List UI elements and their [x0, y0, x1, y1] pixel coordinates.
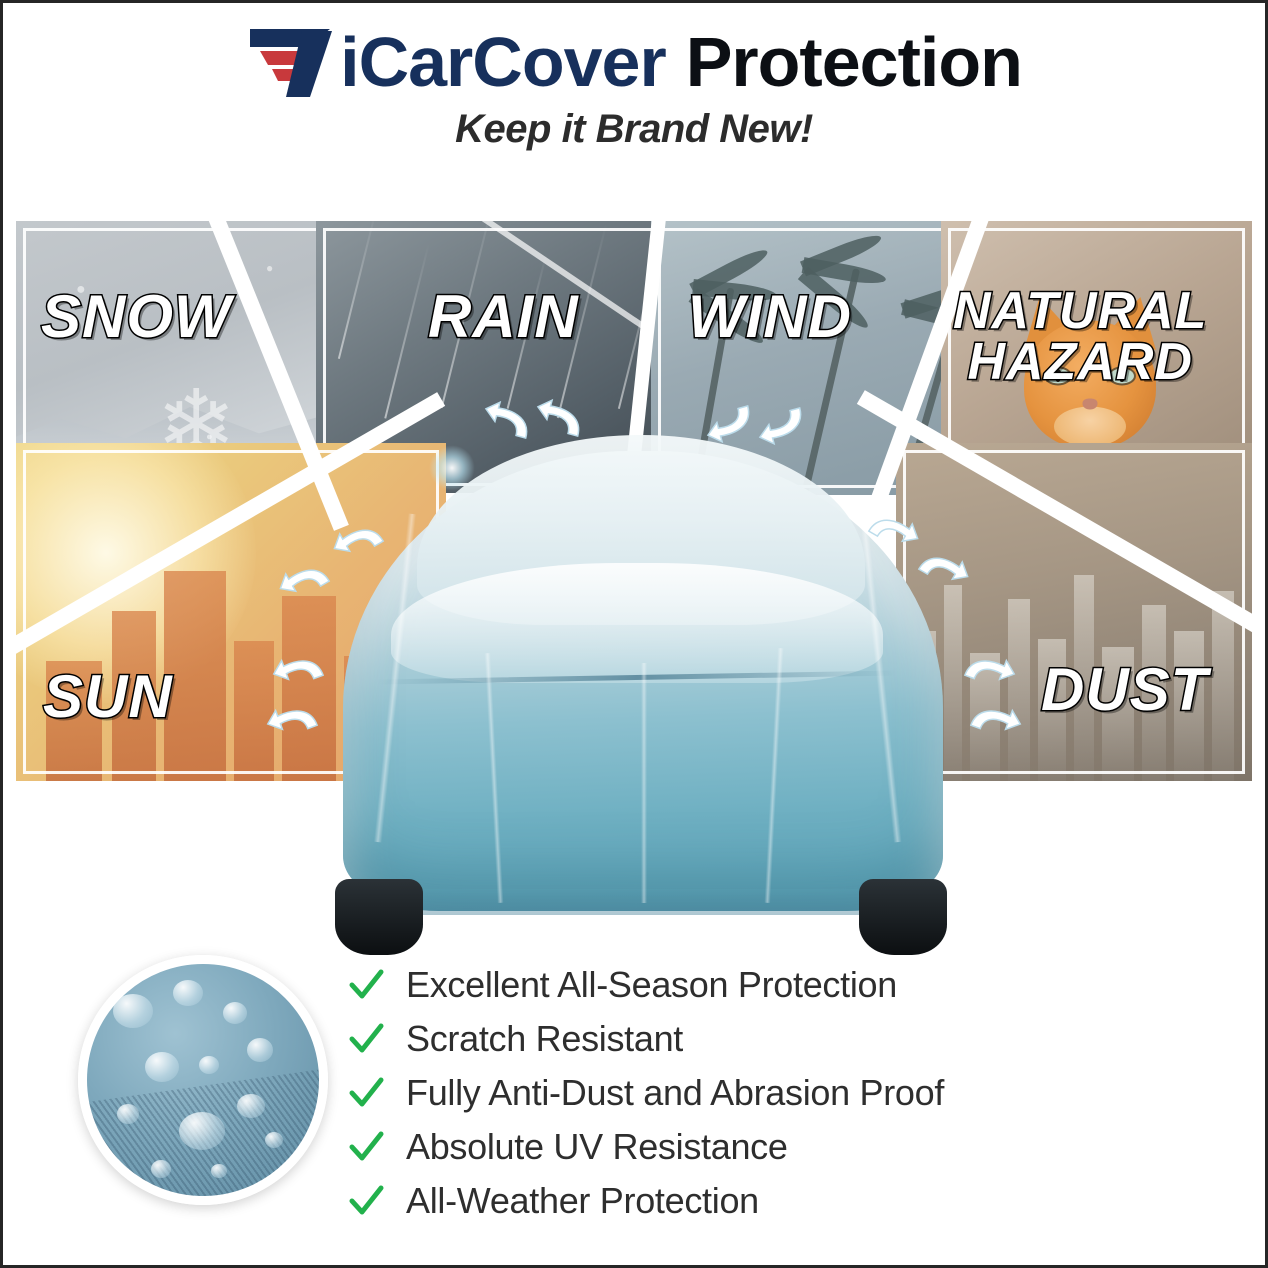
tagline: Keep it Brand New!	[3, 107, 1265, 152]
brand-name: iCarCover	[340, 27, 666, 97]
checkmark-icon	[348, 1075, 384, 1111]
icarcover-wing-logo-icon	[246, 25, 338, 99]
checkmark-icon	[348, 1021, 384, 1057]
product-infographic: iCarCover Protection Keep it Brand New! …	[3, 3, 1265, 1265]
snow-particle: ●	[266, 261, 273, 275]
feature-label: Absolute UV Resistance	[406, 1126, 788, 1168]
snow-particle: ●	[206, 431, 213, 443]
brand-suffix: Protection	[686, 27, 1022, 97]
list-item: Fully Anti-Dust and Abrasion Proof	[348, 1066, 1148, 1120]
caption-hazard: NATURAL HAZARD	[953, 286, 1207, 388]
caption-sun: SUN	[43, 668, 173, 727]
header: iCarCover Protection Keep it Brand New!	[3, 25, 1265, 152]
caption-dust: DUST	[1041, 661, 1208, 720]
list-item: Excellent All-Season Protection	[348, 958, 1148, 1012]
caption-snow: SNOW	[41, 288, 232, 347]
feature-label: All-Weather Protection	[406, 1180, 759, 1222]
caption-wind: WIND	[688, 288, 852, 347]
feature-label: Fully Anti-Dust and Abrasion Proof	[406, 1072, 944, 1114]
brand-lockup: iCarCover Protection	[3, 25, 1265, 99]
checkmark-icon	[348, 967, 384, 1003]
caption-rain: RAIN	[428, 288, 579, 347]
list-item: All-Weather Protection	[348, 1174, 1148, 1228]
feature-list: Excellent All-Season Protection Scratch …	[348, 958, 1148, 1228]
car-cover-product	[321, 433, 961, 963]
checkmark-icon	[348, 1183, 384, 1219]
list-item: Absolute UV Resistance	[348, 1120, 1148, 1174]
feature-label: Excellent All-Season Protection	[406, 964, 897, 1006]
checkmark-icon	[348, 1129, 384, 1165]
water-beading-fabric-swatch	[78, 955, 328, 1205]
list-item: Scratch Resistant	[348, 1012, 1148, 1066]
feature-label: Scratch Resistant	[406, 1018, 683, 1060]
